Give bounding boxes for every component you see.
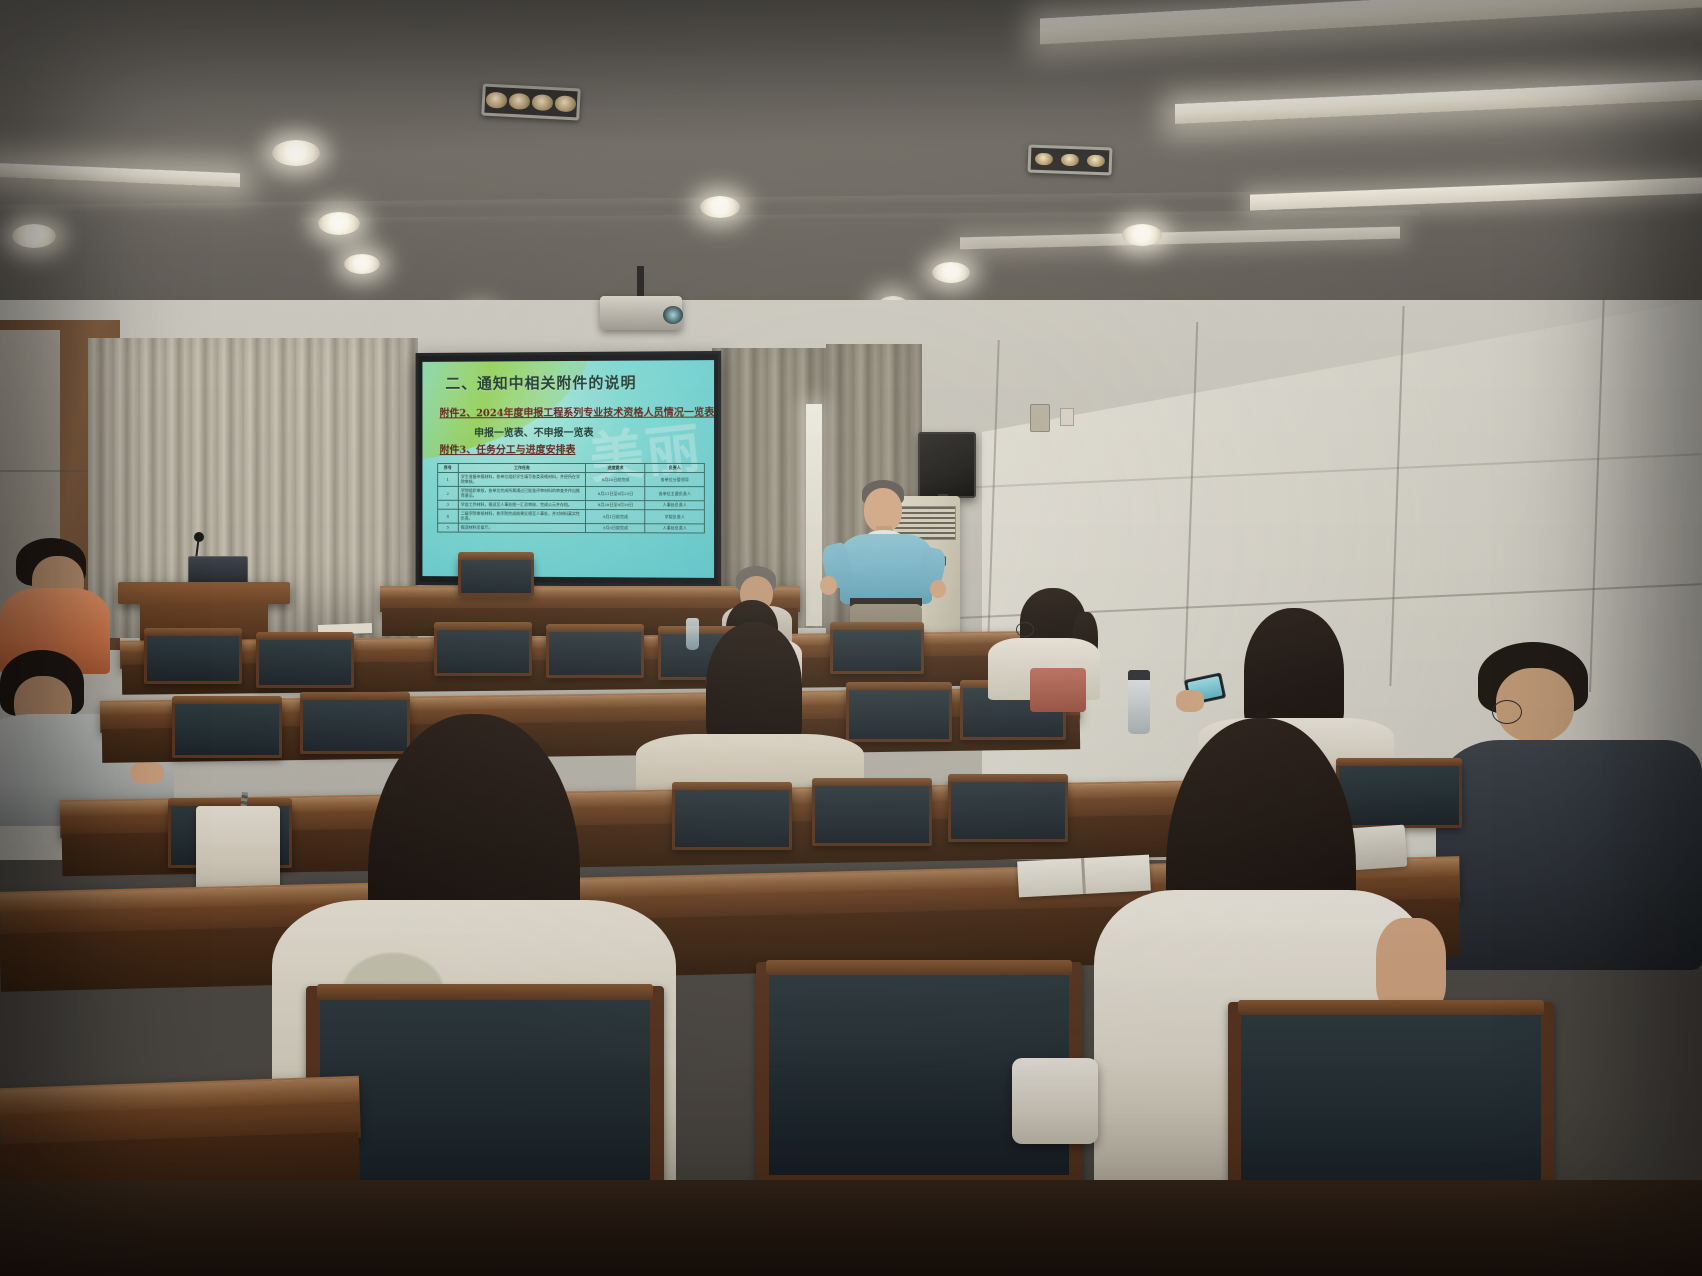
cell-owner: 人事处负责人	[645, 500, 705, 509]
attendee-right-edge-glasses	[1492, 700, 1522, 724]
wall-outlet-icon	[1060, 408, 1074, 426]
chair-r2-d	[546, 628, 644, 678]
conference-room-photo: 美丽 二、通知中相关附件的说明 附件2、2024年度申报工程系列专业技术资格人员…	[0, 0, 1702, 1276]
tumbler-lid	[1128, 670, 1150, 680]
cell-task: 报送材料至省厅。	[458, 523, 586, 532]
attendee-right-hand	[1176, 690, 1204, 712]
downlight-1	[12, 224, 56, 248]
chair-r2-f	[830, 626, 924, 674]
slide-col-header-no: 序号	[437, 463, 458, 472]
downlight-4	[344, 254, 380, 274]
cell-task: 学院组织审核，各单位完成所属通过已批准评审材料的审查并作出推荐意见。	[458, 486, 586, 500]
table-sheen	[380, 588, 800, 598]
cell-due: 9月1日前完成	[586, 509, 645, 523]
slide-table-header-row: 序号 工作任务 进度要求 负责人	[437, 463, 704, 472]
chair-r4-e	[1336, 762, 1462, 828]
wall-speaker	[918, 432, 976, 498]
white-bag-floor	[1012, 1058, 1098, 1144]
chair-r3-a	[172, 700, 282, 758]
slide-col-header-owner: 负责人	[645, 463, 705, 472]
projector-mount-pole	[637, 266, 644, 296]
slide-col-header-task: 工作任务	[458, 463, 586, 472]
slide-content: 美丽 二、通知中相关附件的说明 附件2、2024年度申报工程系列专业技术资格人员…	[422, 360, 714, 578]
chair-r4-c	[812, 782, 932, 846]
attendee-ponytail-glasses	[1016, 622, 1034, 637]
downlight-2	[272, 140, 320, 166]
ceiling-spot-fixture-left	[481, 83, 581, 120]
table-sheen	[0, 1078, 360, 1115]
slide-attachment2-line: 附件2、2024年度申报工程系列专业技术资格人员情况一览表	[440, 404, 714, 420]
slide-table-row: 4 二级学院审核材料，各学院完成结果反馈至人事处，并对材料真实性负责。 9月1日…	[437, 509, 704, 524]
floor	[0, 1180, 1702, 1276]
attendee-ponytail-bag	[1030, 668, 1086, 712]
cell-task: 学会工作材料，报送至人事处统一汇总审核，完成公示并存档。	[458, 500, 586, 509]
downlight-3	[318, 212, 360, 235]
chair-r3-c	[846, 686, 952, 742]
chair-top-rail	[458, 552, 534, 560]
cell-owner: 人事处负责人	[645, 523, 705, 532]
cell-due: 9月5日前完成	[586, 523, 645, 532]
chair-r3-b	[300, 696, 410, 754]
presenter-left-hand	[820, 576, 837, 595]
slide-schedule-table: 序号 工作任务 进度要求 负责人 1 学生准备申报材料，各单位组织学生填写各类表…	[437, 462, 705, 533]
microphone-head	[194, 532, 204, 542]
cell-task: 二级学院审核材料，各学院完成结果反馈至人事处，并对材料真实性负责。	[458, 509, 586, 523]
attendee-right-edge-shirt	[1436, 740, 1702, 970]
water-bottle-row2	[686, 618, 699, 650]
head-table-chair	[458, 556, 534, 596]
slide-table-row: 1 学生准备申报材料，各单位组织学生填写各类表格材料，并经所在学院审核。 8月2…	[437, 472, 704, 486]
downlight-6	[932, 262, 970, 283]
presenter-shirt	[840, 534, 932, 604]
podium-laptop	[188, 556, 248, 584]
cell-no: 2	[437, 486, 458, 500]
chair-r2-a	[144, 632, 242, 684]
chair-r2-c	[434, 626, 532, 676]
window-light-gap	[806, 404, 822, 626]
chair-r4-b	[672, 786, 792, 850]
chair-r2-b	[256, 636, 354, 688]
slide-attachment3-line: 附件3、任务分工与进度安排表	[440, 441, 576, 456]
wall-sensor-icon	[1030, 404, 1050, 432]
cell-no: 3	[437, 500, 458, 509]
slide-col-header-due: 进度要求	[586, 463, 645, 472]
slide-table-row: 2 学院组织审核，各单位完成所属通过已批准评审材料的审查并作出推荐意见。 8月2…	[437, 486, 704, 500]
cell-no: 4	[437, 509, 458, 523]
projector-lens	[663, 306, 683, 324]
cell-owner: 学院负责人	[645, 509, 705, 523]
cell-no: 1	[437, 472, 458, 486]
presenter-right-hand	[930, 580, 946, 598]
slide-title: 二、通知中相关附件的说明	[445, 371, 636, 393]
slide-table-row: 5 报送材料至省厅。 9月5日前完成 人事处负责人	[437, 523, 704, 533]
cell-owner: 各单位主要负责人	[645, 486, 705, 500]
cell-due: 8月28日至8月30日	[586, 500, 645, 509]
cell-due: 8月20日前完成	[586, 472, 645, 486]
podium-top	[118, 582, 290, 604]
cell-due: 8月21日至8月25日	[586, 486, 645, 500]
chair-r4-d	[948, 778, 1068, 842]
downlight-5	[700, 196, 740, 218]
cell-owner: 各单位分管领导	[645, 472, 705, 486]
ceiling-spot-fixture-right	[1028, 145, 1113, 176]
tumbler-right	[1128, 676, 1150, 734]
attendee-grey-hand	[130, 762, 164, 784]
downlight-8	[1122, 224, 1162, 246]
cell-no: 5	[437, 523, 458, 532]
cell-task: 学生准备申报材料，各单位组织学生填写各类表格材料，并经所在学院审核。	[458, 472, 586, 486]
slide-lists-line: 申报一览表、不申报一览表	[474, 424, 593, 439]
